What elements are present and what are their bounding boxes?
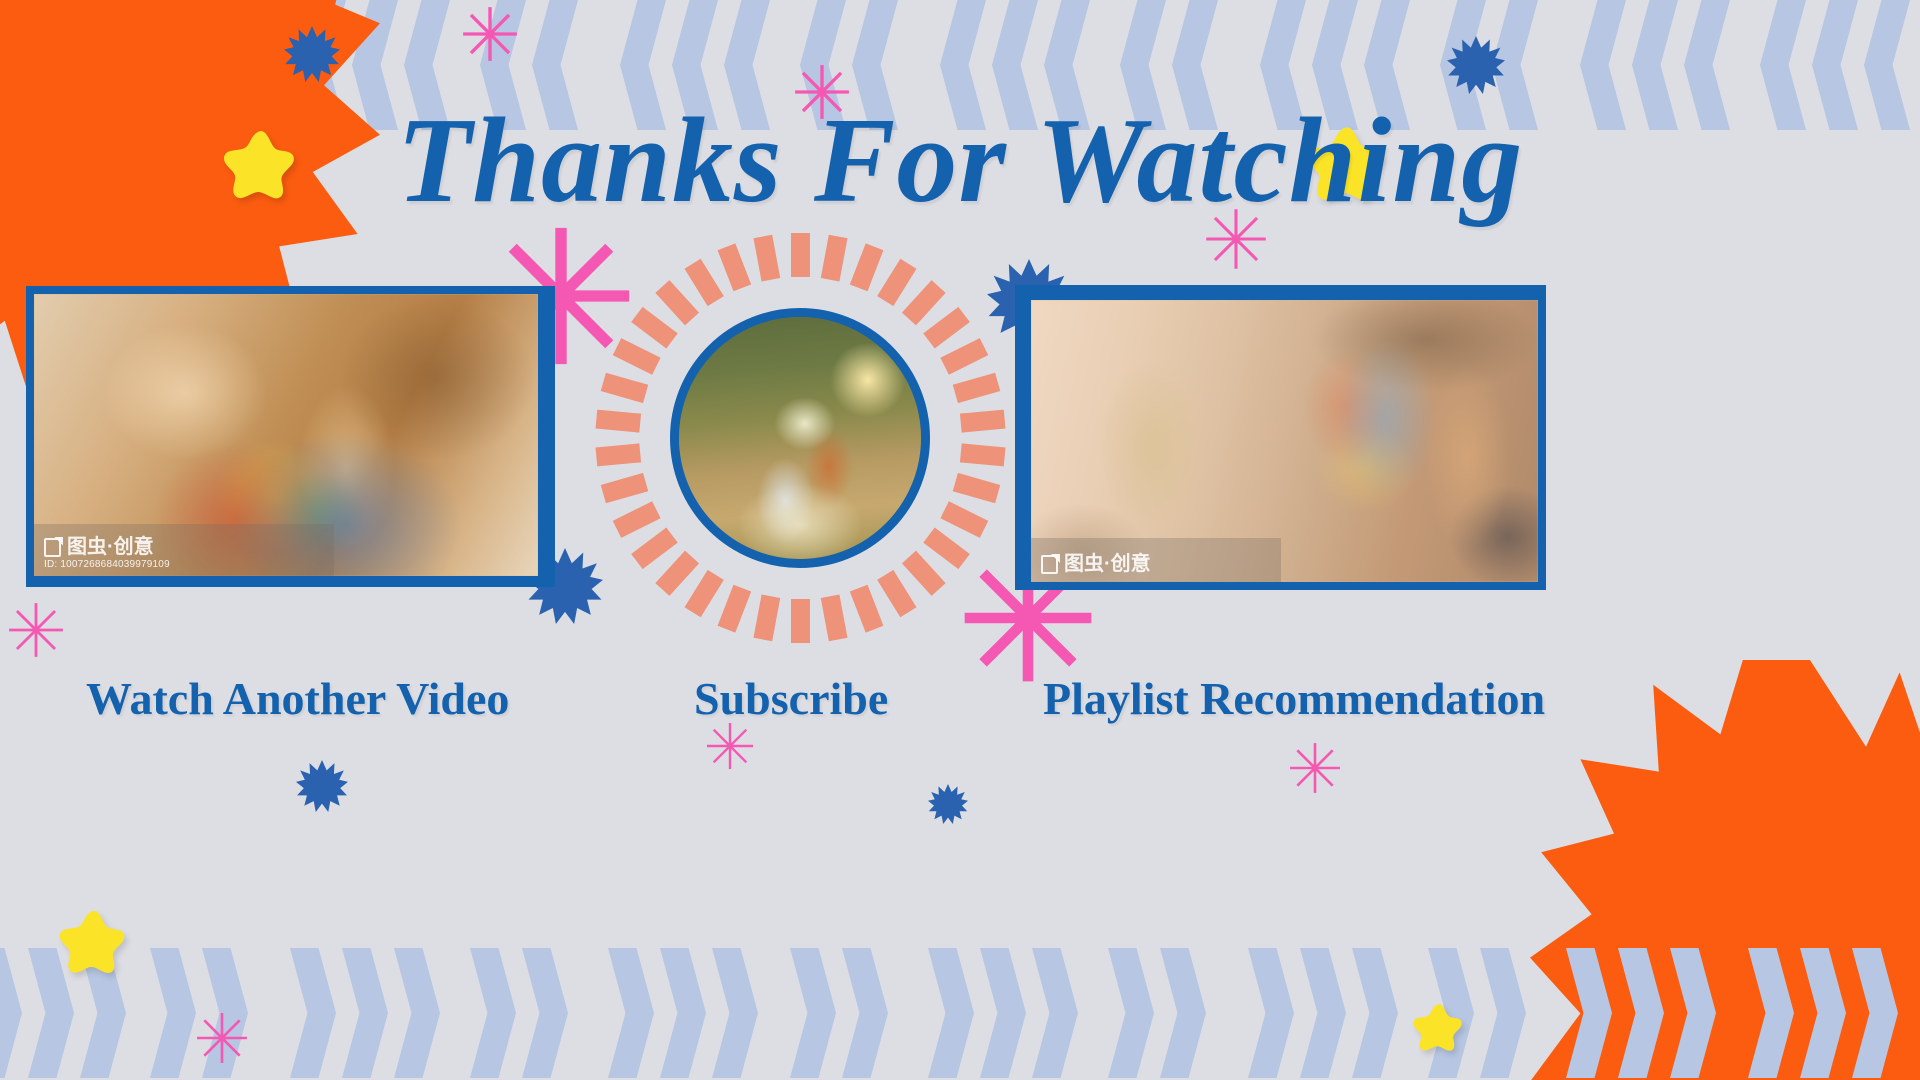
blue-burst-star-icon (928, 784, 968, 824)
chevron-shape (1748, 948, 1794, 1078)
photo-woman-beret (679, 317, 921, 559)
sunburst-ray (923, 527, 970, 569)
chevron-shape (1800, 948, 1846, 1078)
sunburst-ray (959, 410, 1005, 433)
sunburst-ray (684, 570, 723, 617)
sunburst-ray (595, 410, 641, 433)
chevron-shape (712, 948, 758, 1078)
chevron-shape (1352, 948, 1398, 1078)
chevron-shape (290, 948, 336, 1078)
sunburst-ray (849, 585, 883, 633)
chevron-band-bottom (0, 948, 1920, 1078)
card-media-playlist-recommendation[interactable]: 图虫·创意 (1023, 292, 1546, 590)
chevron-shape (1248, 948, 1294, 1078)
frame-accent-bar (1015, 285, 1546, 294)
sunburst-ray (600, 473, 648, 503)
chevron-shape (1480, 948, 1526, 1078)
sunburst-ray (940, 338, 988, 375)
chevron-shape (1300, 948, 1346, 1078)
chevron-shape (980, 948, 1026, 1078)
chevron-shape (342, 948, 388, 1078)
sunburst-ray (631, 527, 678, 569)
sunburst-ray (600, 373, 648, 403)
sunburst-ray (612, 338, 660, 375)
sunburst-ray (820, 595, 847, 642)
card-media-watch-another-video[interactable]: 图虫·创意 ID: 1007268684039979109 (26, 286, 546, 584)
sunburst-ray (959, 443, 1005, 466)
pink-asterisk-icon (196, 1012, 248, 1064)
pink-asterisk-icon (462, 6, 518, 62)
sunburst-ray (877, 570, 916, 617)
sunburst-ray (791, 599, 810, 643)
yellow-star-icon (58, 908, 130, 980)
chevron-shape (522, 948, 568, 1078)
watermark-backdrop (34, 524, 334, 576)
caption-watch-another-video[interactable]: Watch Another Video (86, 672, 509, 725)
sunburst-ray (940, 501, 988, 538)
sunburst-ray (595, 443, 641, 466)
watermark-backdrop (1031, 538, 1281, 582)
sunburst-ray (791, 233, 810, 277)
chevron-shape (394, 948, 440, 1078)
sunburst-ray (952, 373, 1000, 403)
card-media-subscribe[interactable] (640, 278, 960, 598)
chevron-shape (1160, 948, 1206, 1078)
sunburst-ray (923, 307, 970, 349)
sunburst-ray (753, 595, 780, 642)
sunburst-ray (612, 501, 660, 538)
pink-asterisk-icon (1289, 742, 1341, 794)
chevron-shape (842, 948, 888, 1078)
chevron-shape (1032, 948, 1078, 1078)
frame-accent-bar (26, 578, 554, 587)
pink-asterisk-icon (8, 602, 64, 658)
caption-subscribe[interactable]: Subscribe (694, 672, 888, 725)
sunburst-ray (684, 259, 723, 306)
page-title: Thanks For Watching (0, 97, 1920, 225)
sunburst-ray (952, 473, 1000, 503)
chevron-shape (660, 948, 706, 1078)
sunburst-ray (631, 307, 678, 349)
yellow-star-icon (1412, 1002, 1466, 1056)
chevron-shape (1618, 948, 1664, 1078)
thanks-for-watching-slide: Thanks For Watching 图虫·创意 ID: 1007268684… (0, 0, 1920, 1080)
frame-accent-bar (1015, 285, 1024, 590)
chevron-shape (1670, 948, 1716, 1078)
chevron-shape (928, 948, 974, 1078)
chevron-shape (150, 948, 196, 1078)
caption-playlist-recommendation[interactable]: Playlist Recommendation (1043, 672, 1545, 725)
photo-woman-painting-outdoors-circle (670, 308, 930, 568)
chevron-shape (1108, 948, 1154, 1078)
chevron-shape (1566, 948, 1612, 1078)
chevron-shape (790, 948, 836, 1078)
chevron-shape (470, 948, 516, 1078)
frame-accent-bar (546, 286, 555, 587)
chevron-shape (0, 948, 22, 1078)
chevron-shape (608, 948, 654, 1078)
sunburst-ray (849, 243, 883, 291)
sunburst-ray (820, 235, 847, 282)
sunburst-ray (753, 235, 780, 282)
chevron-shape (1852, 948, 1898, 1078)
blue-burst-star-icon (296, 760, 348, 812)
sunburst-ray (717, 243, 751, 291)
sunburst-ray (717, 585, 751, 633)
pink-asterisk-icon (706, 722, 754, 770)
sunburst-ray (877, 259, 916, 306)
